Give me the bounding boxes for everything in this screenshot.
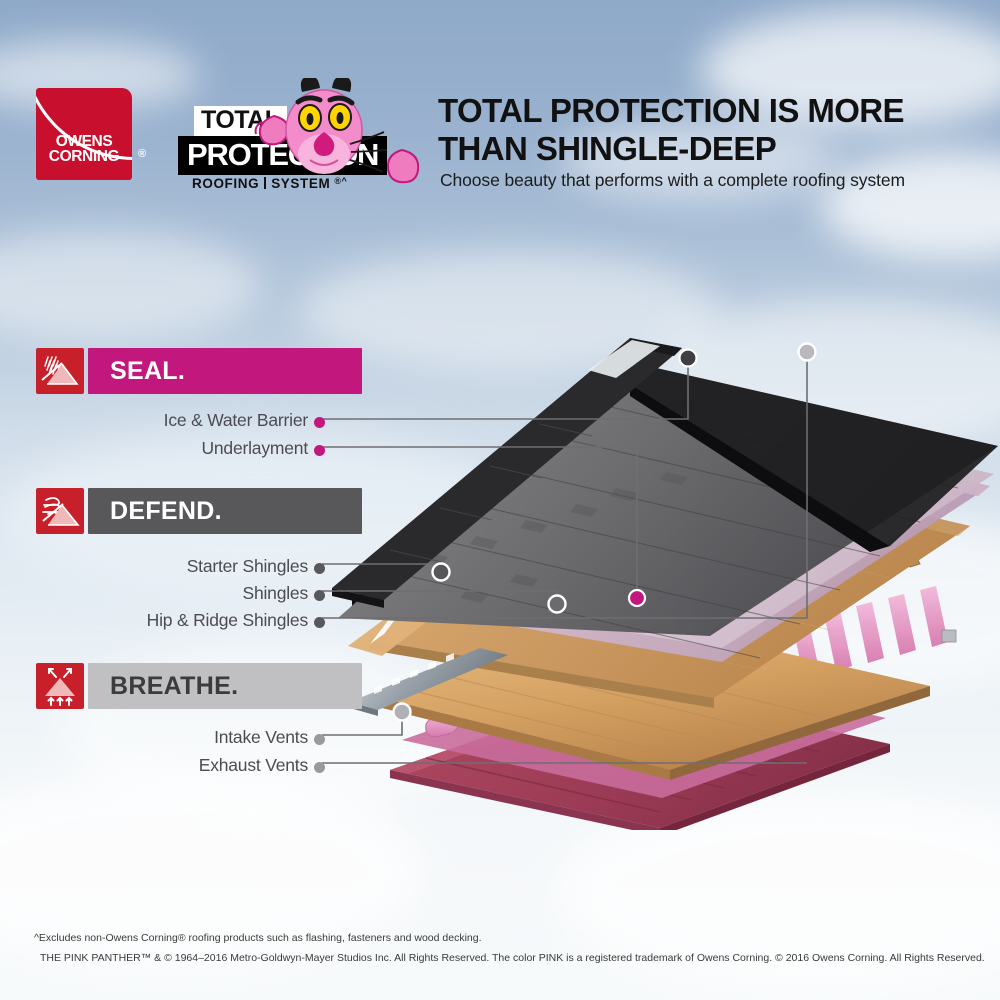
- callout-starter-shingles[interactable]: Starter Shingles: [0, 556, 308, 577]
- pink-panther-icon: [254, 78, 424, 196]
- category-bar-breathe: BREATHE.: [88, 663, 362, 709]
- callout-underlayment[interactable]: Underlayment: [0, 438, 308, 459]
- category-label-defend: DEFEND.: [110, 497, 222, 526]
- infographic-canvas: OWENS CORNING ® TOTAL PROTECTION ROOFING…: [0, 0, 1000, 1000]
- category-banner-breathe[interactable]: BREATHE.: [36, 663, 362, 709]
- category-banner-defend[interactable]: DEFEND.: [36, 488, 362, 534]
- callout-exhaust-vents[interactable]: Exhaust Vents: [0, 755, 308, 776]
- callout-dot: [314, 762, 325, 773]
- callout-dot: [314, 590, 325, 601]
- lockup-roofing-text: ROOFING: [192, 176, 259, 191]
- logo-line-1: OWENS: [36, 134, 132, 149]
- airflow-vent-icon: [36, 663, 84, 709]
- callout-label: Hip & Ridge Shingles: [147, 610, 308, 630]
- category-label-seal: SEAL.: [110, 357, 185, 386]
- wind-on-roof-icon: [36, 488, 84, 534]
- callout-dot: [314, 563, 325, 574]
- callout-dot: [314, 734, 325, 745]
- footer-disclaimer-line-1: ^Excludes non-Owens Corning® roofing pro…: [34, 932, 984, 944]
- callout-label: Ice & Water Barrier: [164, 410, 308, 430]
- callout-intake-vents[interactable]: Intake Vents: [0, 727, 308, 748]
- callout-hip-ridge-shingles[interactable]: Hip & Ridge Shingles: [0, 610, 308, 631]
- roof-assembly-illustration: [330, 300, 1000, 830]
- category-bar-seal: SEAL.: [88, 348, 362, 394]
- callout-label: Intake Vents: [214, 727, 308, 747]
- rain-on-roof-icon: [36, 348, 84, 394]
- category-label-breathe: BREATHE.: [110, 672, 238, 701]
- owens-corning-logo: OWENS CORNING: [36, 88, 132, 180]
- category-banner-seal[interactable]: SEAL.: [36, 348, 362, 394]
- callout-dot: [314, 417, 325, 428]
- page-subtitle: Choose beauty that performs with a compl…: [440, 170, 980, 191]
- logo-line-2: CORNING: [36, 149, 132, 164]
- headline-line-2: THAN SHINGLE-DEEP: [438, 130, 958, 168]
- callout-label: Exhaust Vents: [199, 755, 308, 775]
- page-title: TOTAL PROTECTION IS MORE THAN SHINGLE-DE…: [438, 92, 958, 168]
- registered-trademark-mark: ®: [138, 148, 146, 160]
- callout-label: Shingles: [242, 583, 308, 603]
- callout-ice-water-barrier[interactable]: Ice & Water Barrier: [0, 410, 308, 431]
- callout-shingles[interactable]: Shingles: [0, 583, 308, 604]
- headline-line-1: TOTAL PROTECTION IS MORE: [438, 92, 958, 130]
- logo-wordmark: OWENS CORNING: [36, 134, 132, 164]
- footer-disclaimer-line-2: THE PINK PANTHER™ & © 1964–2016 Metro-Go…: [40, 952, 990, 964]
- category-bar-defend: DEFEND.: [88, 488, 362, 534]
- callout-label: Starter Shingles: [187, 556, 308, 576]
- callout-dot: [314, 617, 325, 628]
- callout-dot: [314, 445, 325, 456]
- callout-label: Underlayment: [201, 438, 308, 458]
